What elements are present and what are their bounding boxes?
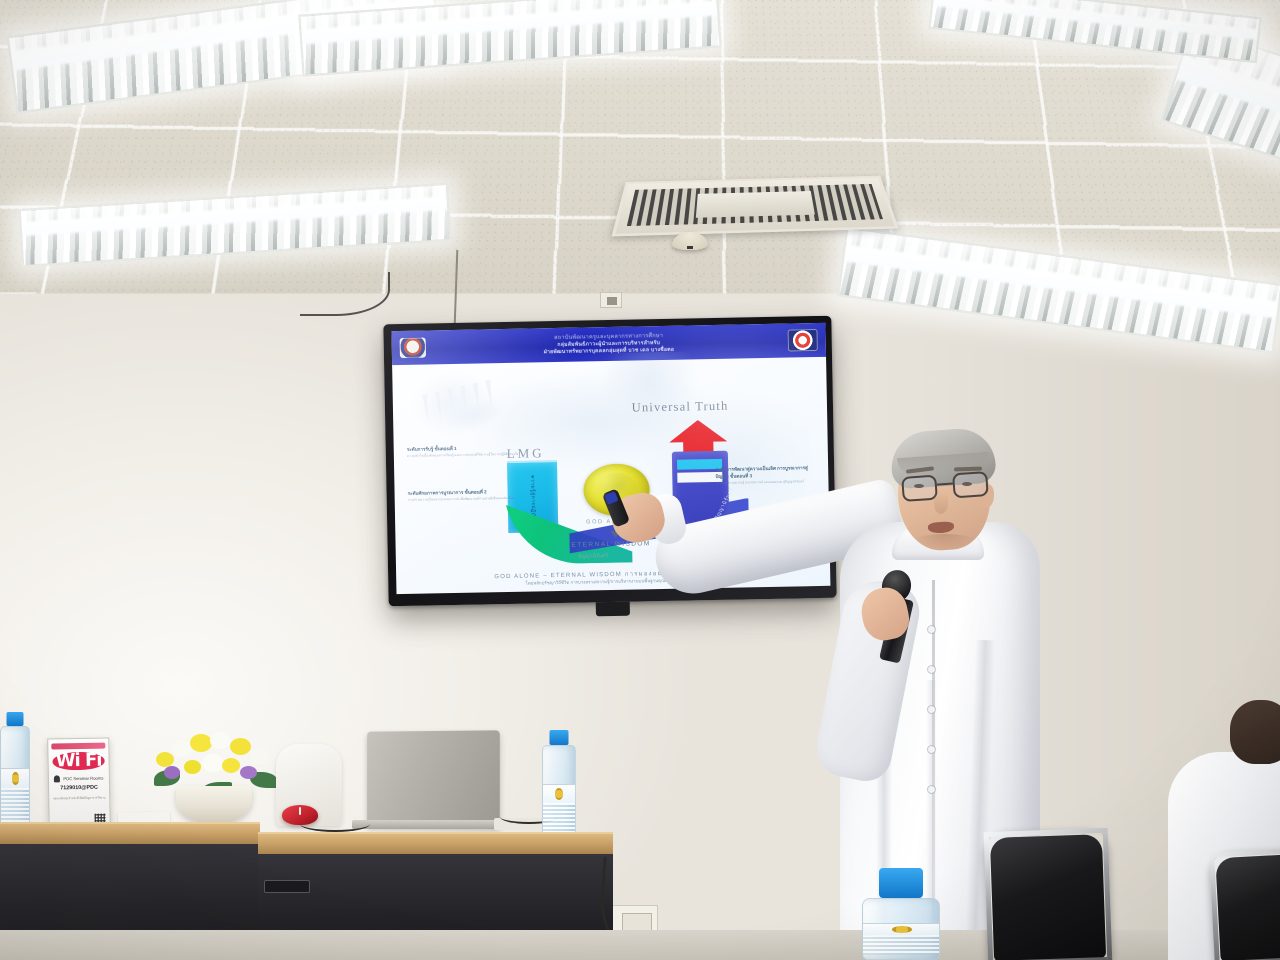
ceiling-air-diffuser (612, 176, 899, 237)
black-chrome-chair-2[interactable] (1215, 854, 1280, 960)
bottle-ribs (543, 803, 575, 835)
glasses-bridge (937, 482, 953, 485)
slide-text-block-left-1: ระดับการรับรู้ ขั้นตอนที่ 1 ความเข้าใจเบ… (407, 444, 524, 458)
slide-header-text: สถาบันพัฒนาครูและบุคลากรทางการศึกษา กลุ่… (543, 331, 674, 357)
wifi-info-sign[interactable]: Wi Fi PDC Seminar Rooms 7129010@PDC กรุณ… (47, 737, 111, 830)
wall-power-outlet-upper[interactable] (600, 292, 622, 308)
wifi-logo-text: Wi Fi (51, 752, 105, 771)
wifi-footer-note: กรุณาติดต่อเจ้าหน้าที่เมื่อมีปัญหาการใช้… (52, 797, 106, 802)
lens-left (901, 475, 938, 502)
institution-crest-icon (400, 338, 426, 358)
water-bottle-right[interactable] (542, 730, 576, 842)
chin-shadow (912, 534, 978, 550)
robe-button (928, 786, 935, 793)
black-chrome-chair-1[interactable] (990, 834, 1106, 960)
wifi-network-row: PDC Seminar Rooms (52, 775, 106, 783)
flower-bloom (184, 760, 201, 774)
person-icon (54, 775, 60, 782)
bottle-cap (550, 730, 569, 745)
slide-header-line3: ฝ่ายพัฒนาทรัพยากรบุคคลกลุ่มสุดที่ บวช เด… (544, 347, 675, 357)
bottle-body (862, 898, 940, 960)
flower-bloom (240, 766, 257, 779)
seminar-room-scene: สถาบันพัฒนาครูและบุคลากรทางการศึกษา กลุ่… (0, 0, 1280, 960)
flower-bloom (250, 748, 269, 764)
lens-right (952, 471, 989, 498)
flower-bloom (202, 754, 224, 772)
slide-text-block-left-2: ระดับศักยภาพการบูรณาการ ขั้นตอนที่ 2 การ… (408, 489, 530, 503)
universal-truth-label: Universal Truth (632, 398, 729, 415)
bottle-body (542, 745, 576, 842)
sign-top-strip (51, 743, 105, 750)
cyan-box-text: ความรู้สู่การปฏิบัติ (528, 475, 537, 520)
slide-header-banner: สถาบันพัฒนาครูและบุคลากรทางการศึกษา กลุ่… (391, 323, 826, 366)
desk-brand-badge (264, 880, 310, 893)
wifi-title: Wi Fi (53, 752, 105, 771)
chair-chrome-frame (1209, 848, 1280, 960)
bottle-ribs (863, 935, 939, 955)
desk-top-surface (258, 832, 613, 854)
flower-bloom (210, 732, 230, 749)
flower-bloom (190, 734, 212, 752)
flower-bloom (230, 738, 251, 755)
bottle-cap (879, 868, 923, 898)
bottle-label (543, 784, 575, 805)
flower-bloom (222, 758, 240, 773)
bottle-cap (7, 712, 24, 726)
water-bottle-foreground[interactable] (862, 868, 940, 960)
robe-button (928, 746, 935, 753)
nose (934, 492, 948, 514)
wifi-password: 7129010@PDC (52, 785, 106, 792)
flower-bloom (172, 740, 192, 757)
wifi-network-label: PDC Seminar Rooms (63, 776, 103, 782)
robe-button (928, 706, 935, 713)
bottle-label (1, 768, 29, 790)
royal-emblem-icon (788, 329, 818, 352)
silver-laptop[interactable] (367, 730, 500, 827)
flower-bloom (156, 752, 174, 767)
vent-center-plate (696, 191, 815, 218)
water-bottle-left[interactable] (0, 712, 30, 830)
robe-button (928, 666, 935, 673)
tv-mount-neck (596, 602, 630, 617)
desk-top-surface (0, 822, 260, 844)
smoke-detector-icon (672, 232, 708, 250)
chair-chrome-frame (984, 828, 1113, 960)
bottle-body (0, 726, 30, 830)
statue-hand-icon (422, 377, 508, 438)
eternal-wisdom-thai-caption: ปัญญานิรันดร์ (578, 552, 608, 561)
desk-cable-1 (300, 816, 370, 832)
bottle-ribs (1, 788, 29, 823)
laptop-base (352, 820, 514, 829)
attendee-head (1230, 700, 1280, 764)
flower-bloom (164, 766, 180, 779)
robe-button (928, 626, 935, 633)
